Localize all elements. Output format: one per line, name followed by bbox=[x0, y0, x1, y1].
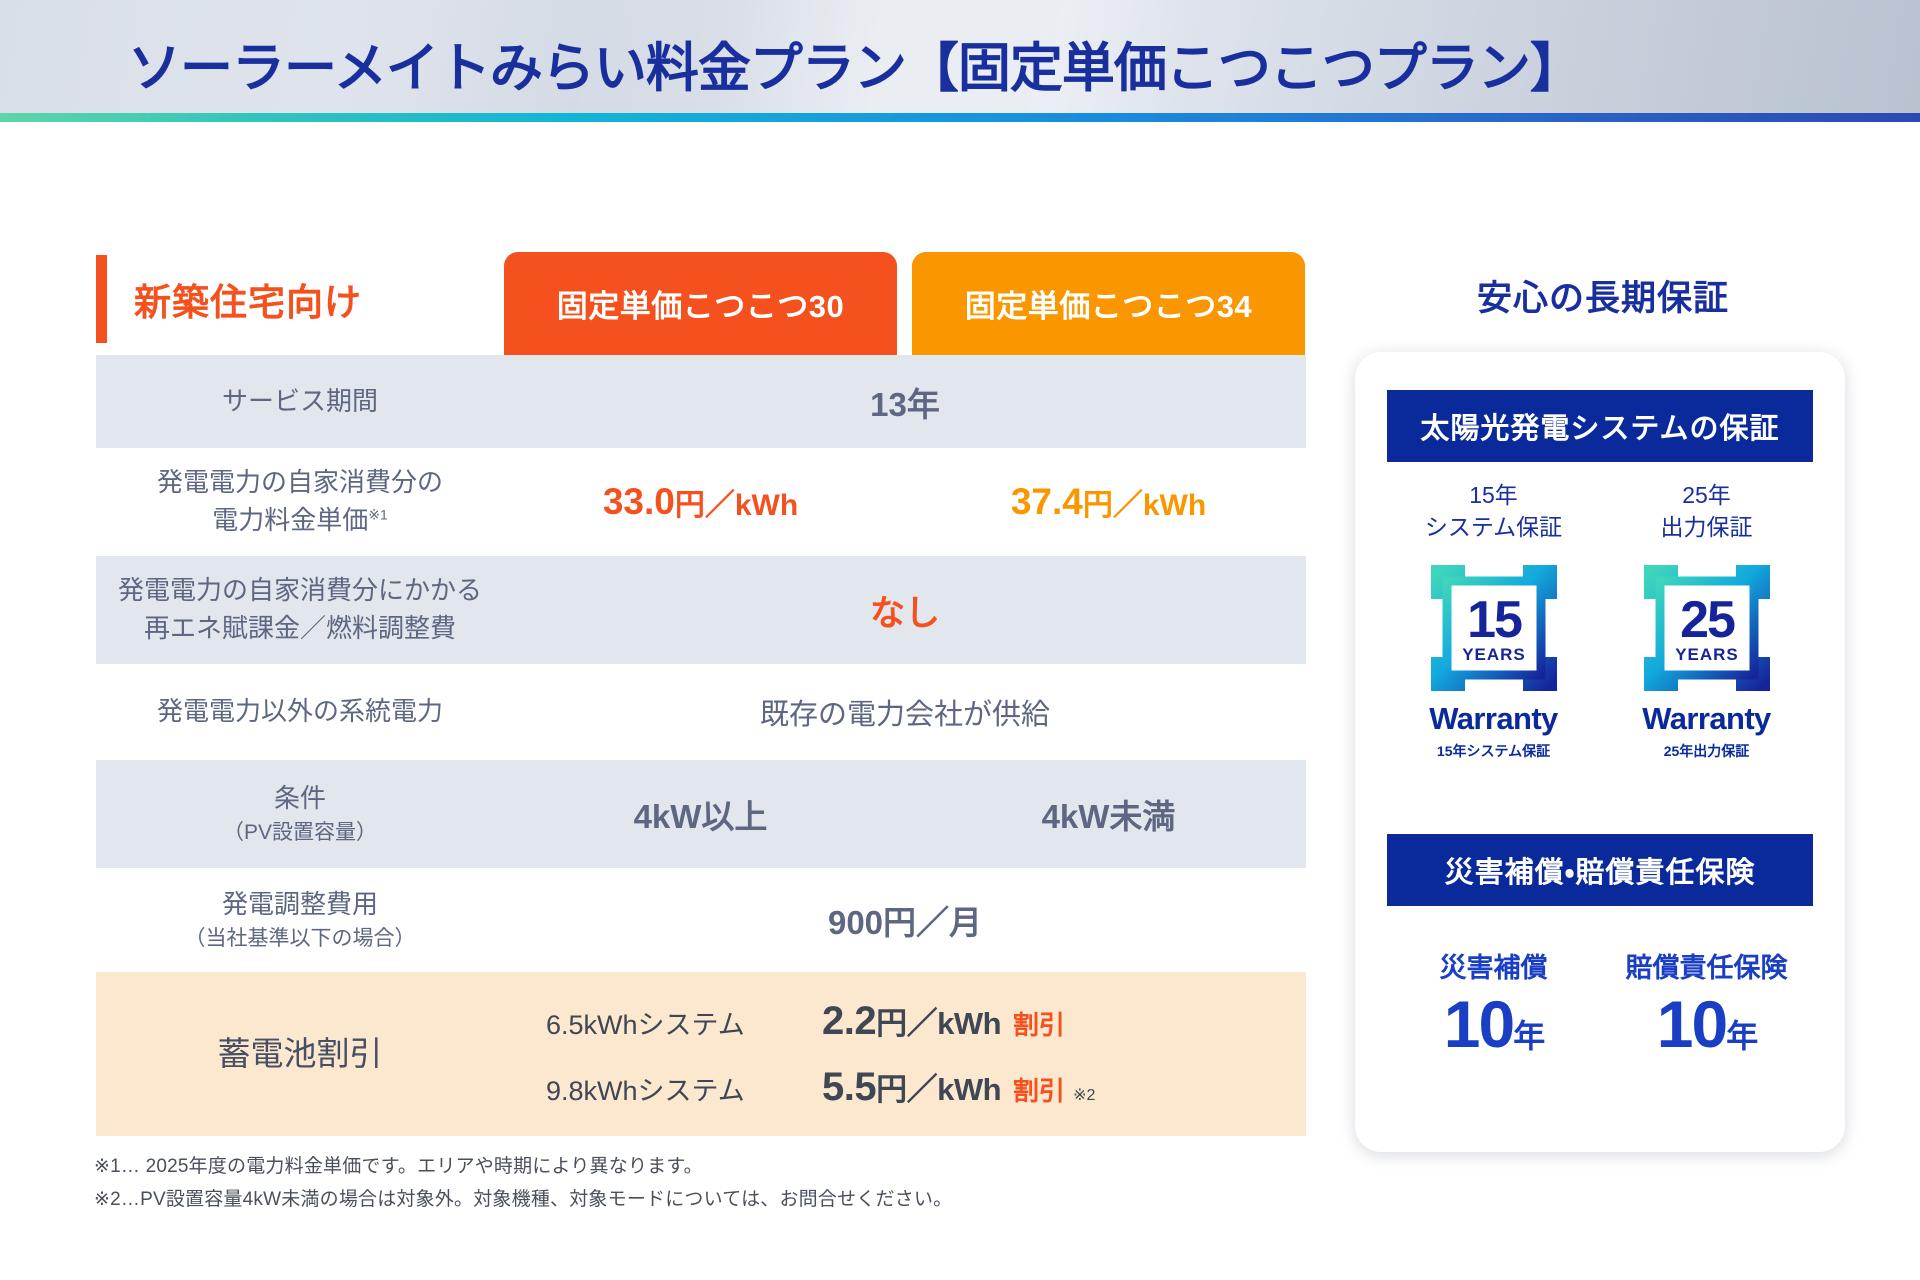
battery-system-98: 9.8kWhシステム bbox=[546, 1069, 822, 1108]
warranty-badge-15: 15年 システム保証 15 YEARS bbox=[1387, 480, 1600, 761]
plan-header-kotsukotsu34[interactable]: 固定単価こつこつ34 bbox=[912, 252, 1305, 355]
plan-name-a: 固定単価こつこつ30 bbox=[557, 281, 844, 326]
row-label-surcharge: 発電電力の自家消費分にかかる 再エネ賦課金／燃料調整費 bbox=[96, 556, 504, 664]
warranty-section-insurance: 災害補償・賠償責任保険 bbox=[1387, 834, 1813, 906]
warranty-25-years-icon: 25 YEARS bbox=[1644, 565, 1770, 691]
row-label-unit-price-line1: 発電電力の自家消費分の bbox=[157, 464, 443, 502]
page-title: ソーラーメイトみらい料金プラン【固定単価こつこつプラン】 bbox=[128, 26, 1582, 102]
row-value-surcharge: なし bbox=[504, 556, 1306, 664]
page-header: ソーラーメイトみらい料金プラン【固定単価こつこつプラン】 bbox=[0, 0, 1920, 122]
table-row-battery-discount: 蓄電池割引 6.5kWhシステム 2.2円／kWh 割引 9.8kWhシステム … bbox=[96, 972, 1306, 1136]
table-row: 発電電力以外の系統電力 既存の電力会社が供給 bbox=[96, 664, 1306, 760]
warranty-badge-15-caption: 15年 システム保証 bbox=[1425, 480, 1562, 543]
table-row: 発電電力の自家消費分にかかる 再エネ賦課金／燃料調整費 なし bbox=[96, 556, 1306, 664]
row-value-condition-a: 4kW以上 bbox=[504, 760, 897, 868]
warranty-badges: 15年 システム保証 15 YEARS bbox=[1387, 480, 1813, 761]
warranty-15-years-icon: 15 YEARS bbox=[1431, 565, 1557, 691]
footnote-2: ※2…PV設置容量4kW未満の場合は対象外。対象機種、対象モードについては、お問… bbox=[94, 1183, 952, 1216]
insurance-liability-years: 10年 bbox=[1657, 991, 1756, 1057]
warranty-section-solar-label: 太陽光発電システムの保証 bbox=[1420, 405, 1779, 447]
row-label-unit-price: 発電電力の自家消費分の 電力料金単価※1 bbox=[96, 448, 504, 556]
insurance-disaster: 災害補償 10年 bbox=[1387, 946, 1600, 1057]
row-label-adjustment-fee-sub: （当社基準以下の場合） bbox=[185, 924, 416, 954]
table-row: サービス期間 13年 bbox=[96, 355, 1306, 448]
warranty-badge-25: 25年 出力保証 25 YEARS bbox=[1600, 480, 1813, 761]
insurance-list: 災害補償 10年 賠償責任保険 10年 bbox=[1387, 946, 1813, 1057]
header-accent-bar bbox=[0, 113, 1920, 122]
battery-value-65: 2.2円／kWh bbox=[822, 998, 1001, 1044]
row-value-grid-power: 既存の電力会社が供給 bbox=[504, 664, 1306, 760]
warranty-section-solar: 太陽光発電システムの保証 bbox=[1387, 390, 1813, 462]
pricing-table: 新築住宅向け 固定単価こつこつ30 固定単価こつこつ34 サービス期間 13年 … bbox=[96, 243, 1306, 1136]
row-label-grid-power: 発電電力以外の系統電力 bbox=[96, 664, 504, 760]
battery-discount-item: 9.8kWhシステム 5.5円／kWh 割引 ※2 bbox=[546, 1064, 1306, 1110]
warranty-badge-25-caption: 25年 出力保証 bbox=[1661, 480, 1753, 543]
battery-value-98: 5.5円／kWh bbox=[822, 1064, 1001, 1110]
svg-text:YEARS: YEARS bbox=[1462, 645, 1526, 664]
insurance-disaster-label: 災害補償 bbox=[1440, 946, 1548, 985]
table-row: 条件 （PV設置容量） 4kW以上 4kW未満 bbox=[96, 760, 1306, 868]
row-value-condition-b: 4kW未満 bbox=[912, 760, 1305, 868]
table-row: 発電電力の自家消費分の 電力料金単価※1 33.0円／kWh 37.4円／kWh bbox=[96, 448, 1306, 556]
warranty-heading: 安心の長期保証 bbox=[1443, 270, 1763, 321]
warranty-badge-15-small: 15年システム保証 bbox=[1437, 741, 1550, 761]
insurance-liability: 賠償責任保険 10年 bbox=[1600, 946, 1813, 1057]
footnotes: ※1… 2025年度の電力料金単価です。エリアや時期により異なります。 ※2…P… bbox=[94, 1150, 952, 1217]
row-value-unit-price-a: 33.0円／kWh bbox=[504, 448, 897, 556]
footnote-ref-1: ※1 bbox=[368, 506, 388, 522]
row-label-service-period: サービス期間 bbox=[96, 355, 504, 448]
row-label-condition-sub: （PV設置容量） bbox=[223, 818, 377, 848]
row-label-unit-price-line2: 電力料金単価※1 bbox=[212, 502, 388, 540]
row-label-surcharge-line1: 発電電力の自家消費分にかかる bbox=[118, 572, 482, 610]
plan-name-b: 固定単価こつこつ34 bbox=[965, 281, 1252, 326]
battery-tag-65: 割引 bbox=[1013, 1005, 1065, 1042]
row-label-condition: 条件 （PV設置容量） bbox=[96, 760, 504, 868]
row-value-service-period: 13年 bbox=[504, 355, 1306, 448]
insurance-liability-label: 賠償責任保険 bbox=[1626, 946, 1788, 985]
warranty-badge-25-small: 25年出力保証 bbox=[1664, 741, 1750, 761]
svg-text:25: 25 bbox=[1680, 591, 1735, 649]
row-label-battery-discount: 蓄電池割引 bbox=[96, 972, 504, 1136]
segment-header: 新築住宅向け bbox=[96, 243, 504, 355]
warranty-badge-25-word: Warranty bbox=[1642, 701, 1770, 737]
warranty-badge-15-word: Warranty bbox=[1429, 701, 1557, 737]
battery-system-65: 6.5kWhシステム bbox=[546, 1003, 822, 1042]
battery-tag-98: 割引 bbox=[1013, 1071, 1065, 1108]
table-row: 発電調整費用 （当社基準以下の場合） 900円／月 bbox=[96, 868, 1306, 972]
row-label-adjustment-fee: 発電調整費用 （当社基準以下の場合） bbox=[96, 868, 504, 972]
insurance-disaster-years: 10年 bbox=[1444, 991, 1543, 1057]
footnote-ref-2: ※2 bbox=[1073, 1085, 1095, 1105]
plan-header-kotsukotsu30[interactable]: 固定単価こつこつ30 bbox=[504, 252, 897, 355]
svg-text:15: 15 bbox=[1467, 591, 1522, 649]
table-header-row: 新築住宅向け 固定単価こつこつ30 固定単価こつこつ34 bbox=[96, 243, 1306, 355]
warranty-card: 太陽光発電システムの保証 15年 システム保証 bbox=[1355, 352, 1845, 1152]
warranty-section-insurance-label: 災害補償・賠償責任保険 bbox=[1445, 849, 1756, 891]
row-label-surcharge-line2: 再エネ賦課金／燃料調整費 bbox=[144, 610, 456, 648]
row-value-adjustment-fee: 900円／月 bbox=[504, 868, 1306, 972]
row-value-unit-price-b: 37.4円／kWh bbox=[912, 448, 1305, 556]
svg-text:YEARS: YEARS bbox=[1675, 645, 1739, 664]
segment-label: 新築住宅向け bbox=[134, 272, 362, 326]
battery-discount-list: 6.5kWhシステム 2.2円／kWh 割引 9.8kWhシステム 5.5円／k… bbox=[504, 972, 1306, 1136]
footnote-1: ※1… 2025年度の電力料金単価です。エリアや時期により異なります。 bbox=[94, 1150, 952, 1183]
battery-discount-item: 6.5kWhシステム 2.2円／kWh 割引 bbox=[546, 998, 1306, 1044]
